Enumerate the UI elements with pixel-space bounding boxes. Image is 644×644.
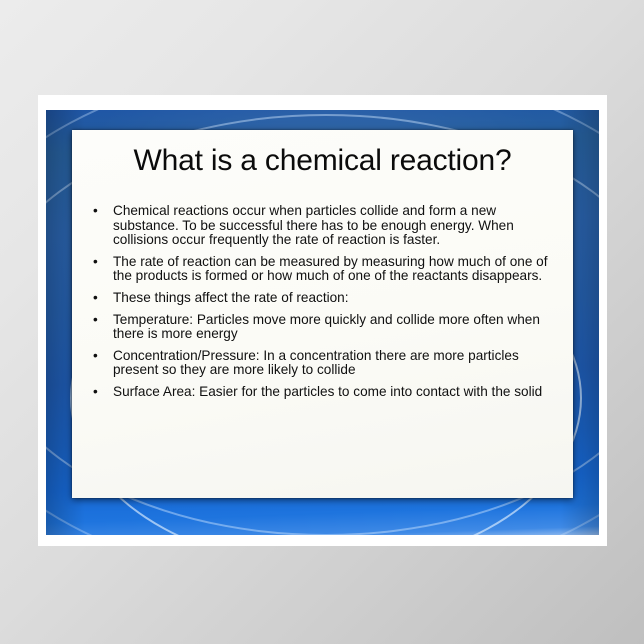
list-item: • The rate of reaction can be measured b… [88,255,557,284]
bullet-marker-icon: • [93,255,98,270]
list-item: • Surface Area: Easier for the particles… [88,385,557,400]
bullet-marker-icon: • [93,349,98,364]
list-item-text: These things affect the rate of reaction… [113,291,557,306]
list-item-text: Surface Area: Easier for the particles t… [113,385,557,400]
bullet-marker-icon: • [93,204,98,219]
poster-canvas: What is a chemical reaction? • Chemical … [0,0,644,644]
bullet-marker-icon: • [93,385,98,400]
poster-content-panel: What is a chemical reaction? • Chemical … [72,130,573,498]
page-title: What is a chemical reaction? [72,130,573,177]
poster-mat: What is a chemical reaction? • Chemical … [38,95,607,546]
list-item: • Temperature: Particles move more quick… [88,313,557,342]
list-item-text: Temperature: Particles move more quickly… [113,313,557,342]
bullet-list: • Chemical reactions occur when particle… [72,177,573,400]
list-item-text: Chemical reactions occur when particles … [113,204,557,248]
poster-blue-frame: What is a chemical reaction? • Chemical … [46,110,599,535]
list-item: • Concentration/Pressure: In a concentra… [88,349,557,378]
list-item: • Chemical reactions occur when particle… [88,204,557,248]
bullet-marker-icon: • [93,313,98,328]
list-item: • These things affect the rate of reacti… [88,291,557,306]
bullet-marker-icon: • [93,291,98,306]
list-item-text: Concentration/Pressure: In a concentrati… [113,349,557,378]
list-item-text: The rate of reaction can be measured by … [113,255,557,284]
